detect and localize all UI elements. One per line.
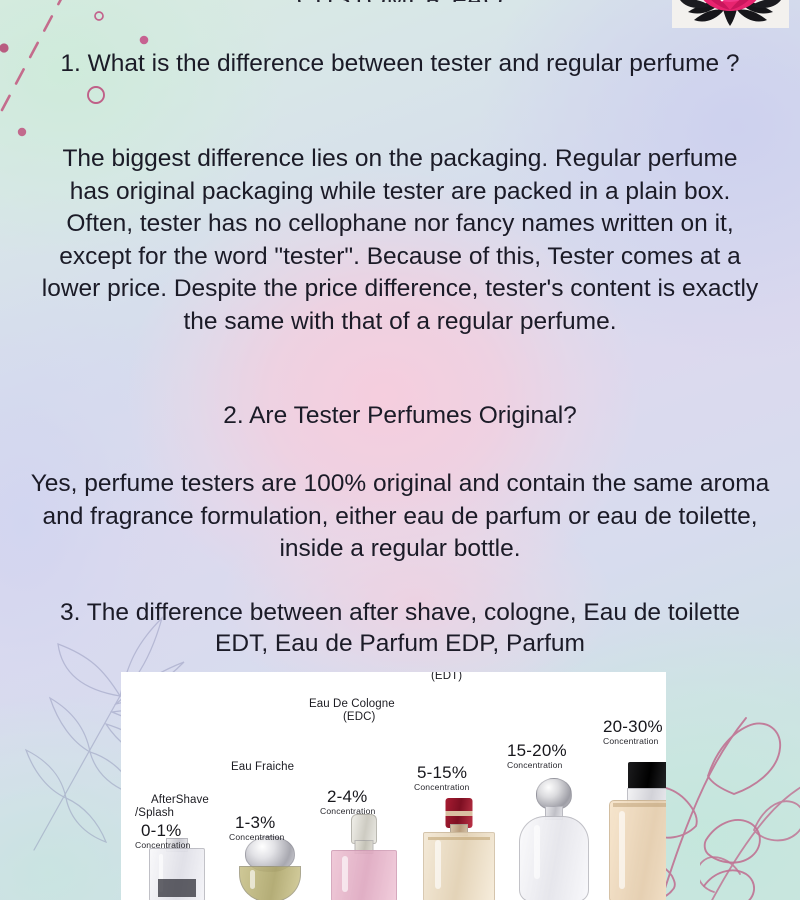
eau-fraiche-percent: 1-3%	[235, 813, 276, 833]
question-2-text: 2. Are Tester Perfumes Original?	[26, 400, 774, 431]
faq-poster: CUSTOMER FAQ 1. What is the difference b…	[0, 0, 800, 900]
faq-question-3: 3. The difference between after shave, c…	[0, 597, 800, 660]
perfume-concentration-infographic: AfterShave /Splash 0-1% Concentration Ea…	[121, 672, 666, 900]
aftershave-concentration: Concentration	[135, 840, 190, 850]
infographic-item-eau-de-parfum: Eau De Parfum (EDP) 15-20% Concentration	[507, 744, 603, 900]
faq-question-2: 2. Are Tester Perfumes Original?	[0, 400, 800, 431]
perfume-extrait-concentration: Concentration	[603, 736, 658, 746]
faq-question-1: 1. What is the difference between tester…	[0, 48, 800, 79]
answer-1-text: The biggest difference lies on the packa…	[40, 143, 760, 338]
eau-de-toilette-concentration: Concentration	[414, 782, 469, 792]
eau-de-toilette-percent: 5-15%	[417, 763, 467, 783]
faq-answer-2: Yes, perfume testers are 100% original a…	[0, 468, 800, 566]
eau-de-toilette-label-line2: (EDT)	[431, 672, 462, 683]
page-title: CUSTOMER FAQ	[0, 0, 800, 2]
infographic-item-eau-de-toilette: Eau De Toilette (EDT) 5-15% Concentratio…	[413, 766, 507, 900]
eau-de-parfum-concentration: Concentration	[507, 760, 562, 770]
aftershave-label-line1: AfterShave	[151, 794, 209, 807]
answer-2-text: Yes, perfume testers are 100% original a…	[30, 468, 770, 566]
perfume-extrait-bottle-art	[609, 750, 666, 900]
faq-answer-1: The biggest difference lies on the packa…	[0, 143, 800, 338]
infographic-item-perfume-extrait: Perfume (Parfum) Extrait 20-30% Concentr…	[603, 720, 666, 900]
infographic-item-eau-fraiche: Eau Fraiche 1-3% Concentration	[225, 816, 313, 900]
infographic-item-eau-de-cologne: Eau De Cologne (EDC) 2-4% Concentration	[319, 790, 413, 900]
eau-de-parfum-bottle-art	[519, 770, 589, 900]
eau-de-toilette-bottle-art	[423, 784, 495, 900]
eau-de-cologne-bottle-art	[331, 806, 397, 900]
eau-de-cologne-label-line1: Eau De Cologne	[309, 698, 395, 711]
eau-de-cologne-concentration: Concentration	[320, 806, 375, 816]
aftershave-percent: 0-1%	[141, 821, 182, 841]
eau-fraiche-concentration: Concentration	[229, 832, 284, 842]
infographic-item-aftershave: AfterShave /Splash 0-1% Concentration	[135, 824, 221, 900]
aftershave-label-line2: /Splash	[135, 807, 174, 820]
question-1-text: 1. What is the difference between tester…	[26, 48, 774, 79]
eau-fraiche-label-line1: Eau Fraiche	[231, 761, 294, 774]
eau-de-cologne-label-line2: (EDC)	[343, 711, 375, 724]
question-3-text: 3. The difference between after shave, c…	[52, 597, 748, 660]
eau-de-parfum-percent: 15-20%	[507, 741, 567, 761]
perfume-extrait-percent: 20-30%	[603, 717, 663, 737]
eau-de-cologne-percent: 2-4%	[327, 787, 368, 807]
eau-fraiche-bottle-art	[239, 836, 301, 900]
